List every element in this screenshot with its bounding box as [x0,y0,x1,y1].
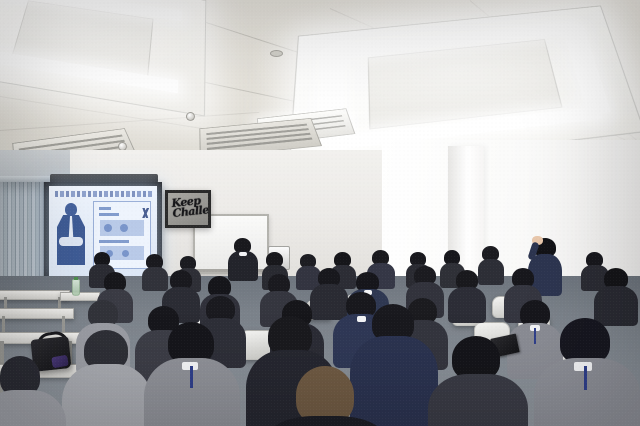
slide-person-illustration [56,203,86,265]
sprinkler-icon [186,112,195,121]
calligraphy-text: Keep Challenge [171,193,208,219]
seminar-room-photo: Keep Challenge [0,0,640,426]
slide-handwriting [138,208,154,218]
smoke-detector-icon [270,50,283,57]
slide-title-line [55,191,152,197]
framed-calligraphy: Keep Challenge [165,190,211,228]
water-bottle [72,279,80,296]
desk [60,292,100,301]
